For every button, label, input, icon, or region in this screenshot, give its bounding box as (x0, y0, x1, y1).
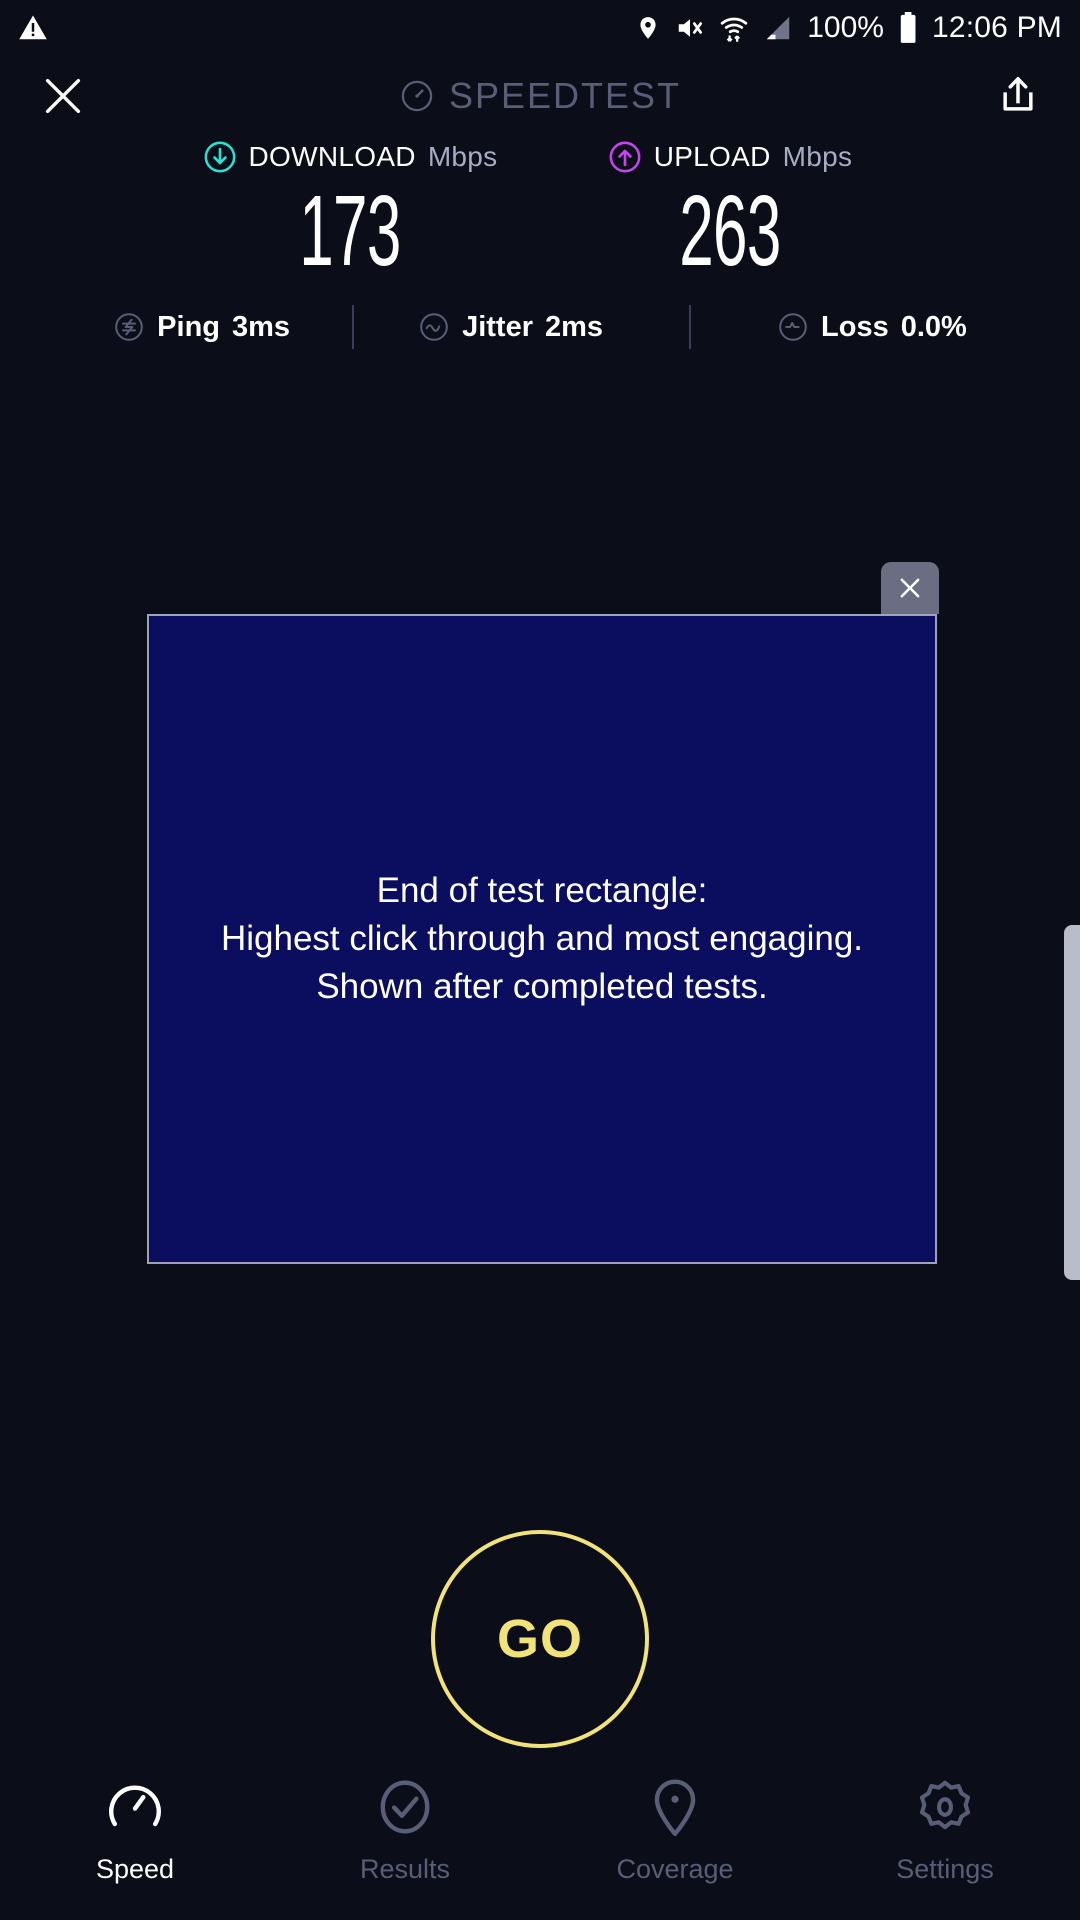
nav-item-coverage[interactable]: Coverage (540, 1776, 810, 1885)
share-upload-icon[interactable] (996, 74, 1040, 118)
upload-unit: Mbps (783, 141, 853, 173)
ping-icon (113, 311, 145, 343)
upload-result: UPLOAD Mbps 263 (540, 140, 920, 282)
nav-item-settings[interactable]: Settings (810, 1776, 1080, 1885)
loss-label: Loss (821, 311, 889, 344)
speedometer-icon (399, 78, 435, 114)
speedtest-app-screen: 100% 12:06 PM SP (0, 0, 1080, 1920)
ad-text: End of test rectangle: Highest click thr… (201, 867, 883, 1012)
status-bar-left (18, 13, 48, 43)
jitter-label: Jitter (462, 311, 533, 344)
upload-label-row: UPLOAD Mbps (540, 140, 920, 174)
go-button-label: GO (497, 1608, 583, 1670)
speed-values-row: DOWNLOAD Mbps 173 UPLOAD Mbps (0, 140, 1080, 282)
ad-close-x-icon (895, 573, 925, 603)
warning-triangle-icon (18, 13, 48, 43)
map-pin-icon (644, 1776, 706, 1838)
status-bar-right: 100% 12:06 PM (635, 11, 1062, 45)
check-circle-icon (374, 1776, 436, 1838)
cellular-signal-icon (763, 13, 793, 43)
ad-line-2: Highest click through and most engaging. (221, 915, 863, 963)
loss-metric: Loss 0.0% (777, 311, 967, 344)
location-pin-icon (635, 13, 661, 43)
upload-label: UPLOAD (654, 141, 771, 173)
nav-item-speed[interactable]: Speed (0, 1776, 270, 1885)
ping-metric: Ping 3ms (113, 311, 290, 344)
loss-icon (777, 311, 809, 343)
download-arrow-icon (203, 140, 237, 174)
nav-label-speed: Speed (96, 1854, 174, 1885)
download-unit: Mbps (428, 141, 498, 173)
speedometer-icon (104, 1776, 166, 1838)
close-x-icon[interactable] (40, 73, 86, 119)
loss-value: 0.0% (901, 311, 967, 344)
battery-full-icon (898, 12, 918, 44)
ad-close-button[interactable] (881, 562, 939, 614)
jitter-value: 2ms (545, 311, 603, 344)
jitter-metric: Jitter 2ms (418, 311, 603, 344)
ping-label: Ping (157, 311, 220, 344)
ad-line-3: Shown after completed tests. (221, 963, 863, 1011)
download-result: DOWNLOAD Mbps 173 (160, 140, 540, 282)
advertisement-banner[interactable]: End of test rectangle: Highest click thr… (147, 614, 937, 1264)
app-header: SPEEDTEST (0, 56, 1080, 136)
gear-icon (914, 1776, 976, 1838)
ad-line-1: End of test rectangle: (221, 867, 863, 915)
volume-muted-icon (675, 13, 705, 43)
nav-label-coverage: Coverage (616, 1854, 733, 1885)
go-button[interactable]: GO (431, 1530, 649, 1748)
page-title: SPEEDTEST (449, 75, 681, 117)
wifi-transfer-icon (719, 13, 749, 43)
upload-value: 263 (612, 180, 848, 282)
metrics-divider (689, 305, 691, 349)
app-title-group: SPEEDTEST (0, 75, 1080, 117)
ping-value: 3ms (232, 311, 290, 344)
metrics-divider (352, 305, 354, 349)
status-bar-clock: 12:06 PM (932, 11, 1062, 45)
nav-label-results: Results (360, 1854, 450, 1885)
battery-percent-label: 100% (807, 11, 884, 45)
upload-arrow-icon (608, 140, 642, 174)
download-label-row: DOWNLOAD Mbps (160, 140, 540, 174)
bottom-navigation-bar: Speed Results Coverage (0, 1760, 1080, 1920)
download-value: 173 (232, 180, 468, 282)
nav-item-results[interactable]: Results (270, 1776, 540, 1885)
network-metrics-row: Ping 3ms Jitter 2ms (0, 305, 1080, 349)
download-label: DOWNLOAD (249, 141, 416, 173)
results-summary: DOWNLOAD Mbps 173 UPLOAD Mbps (0, 140, 1080, 282)
jitter-icon (418, 311, 450, 343)
nav-label-settings: Settings (896, 1854, 994, 1885)
status-bar: 100% 12:06 PM (0, 0, 1080, 56)
vertical-scrollbar[interactable] (1064, 925, 1080, 1280)
